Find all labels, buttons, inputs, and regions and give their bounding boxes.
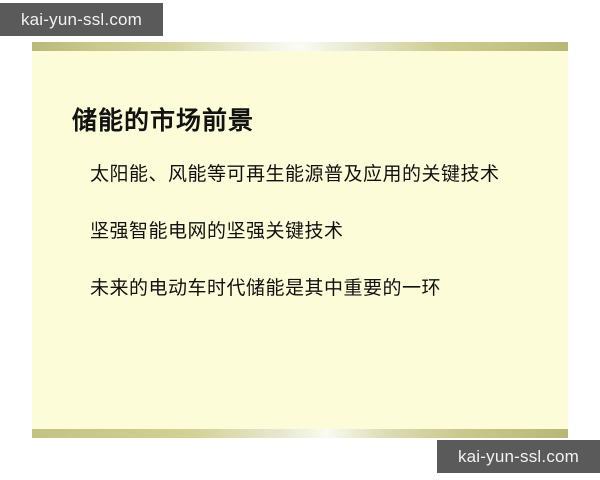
watermark-bottom: kai-yun-ssl.com <box>437 440 600 473</box>
bullet-item-1: 太阳能、风能等可再生能源普及应用的关键技术 <box>90 163 560 186</box>
slide-top-accent-bar <box>32 42 568 51</box>
presentation-slide: 储能的市场前景 太阳能、风能等可再生能源普及应用的关键技术 坚强智能电网的坚强关… <box>32 42 568 438</box>
bullet-item-2: 坚强智能电网的坚强关键技术 <box>90 220 560 243</box>
bullet-item-3: 未来的电动车时代储能是其中重要的一环 <box>90 277 560 300</box>
slide-bottom-accent-bar <box>32 429 568 438</box>
watermark-top: kai-yun-ssl.com <box>0 3 163 36</box>
slide-title: 储能的市场前景 <box>72 106 254 136</box>
slide-screen: 储能的市场前景 太阳能、风能等可再生能源普及应用的关键技术 坚强智能电网的坚强关… <box>0 0 600 480</box>
slide-content-area: 储能的市场前景 太阳能、风能等可再生能源普及应用的关键技术 坚强智能电网的坚强关… <box>32 51 568 429</box>
slide-bullet-list: 太阳能、风能等可再生能源普及应用的关键技术 坚强智能电网的坚强关键技术 未来的电… <box>90 163 560 300</box>
